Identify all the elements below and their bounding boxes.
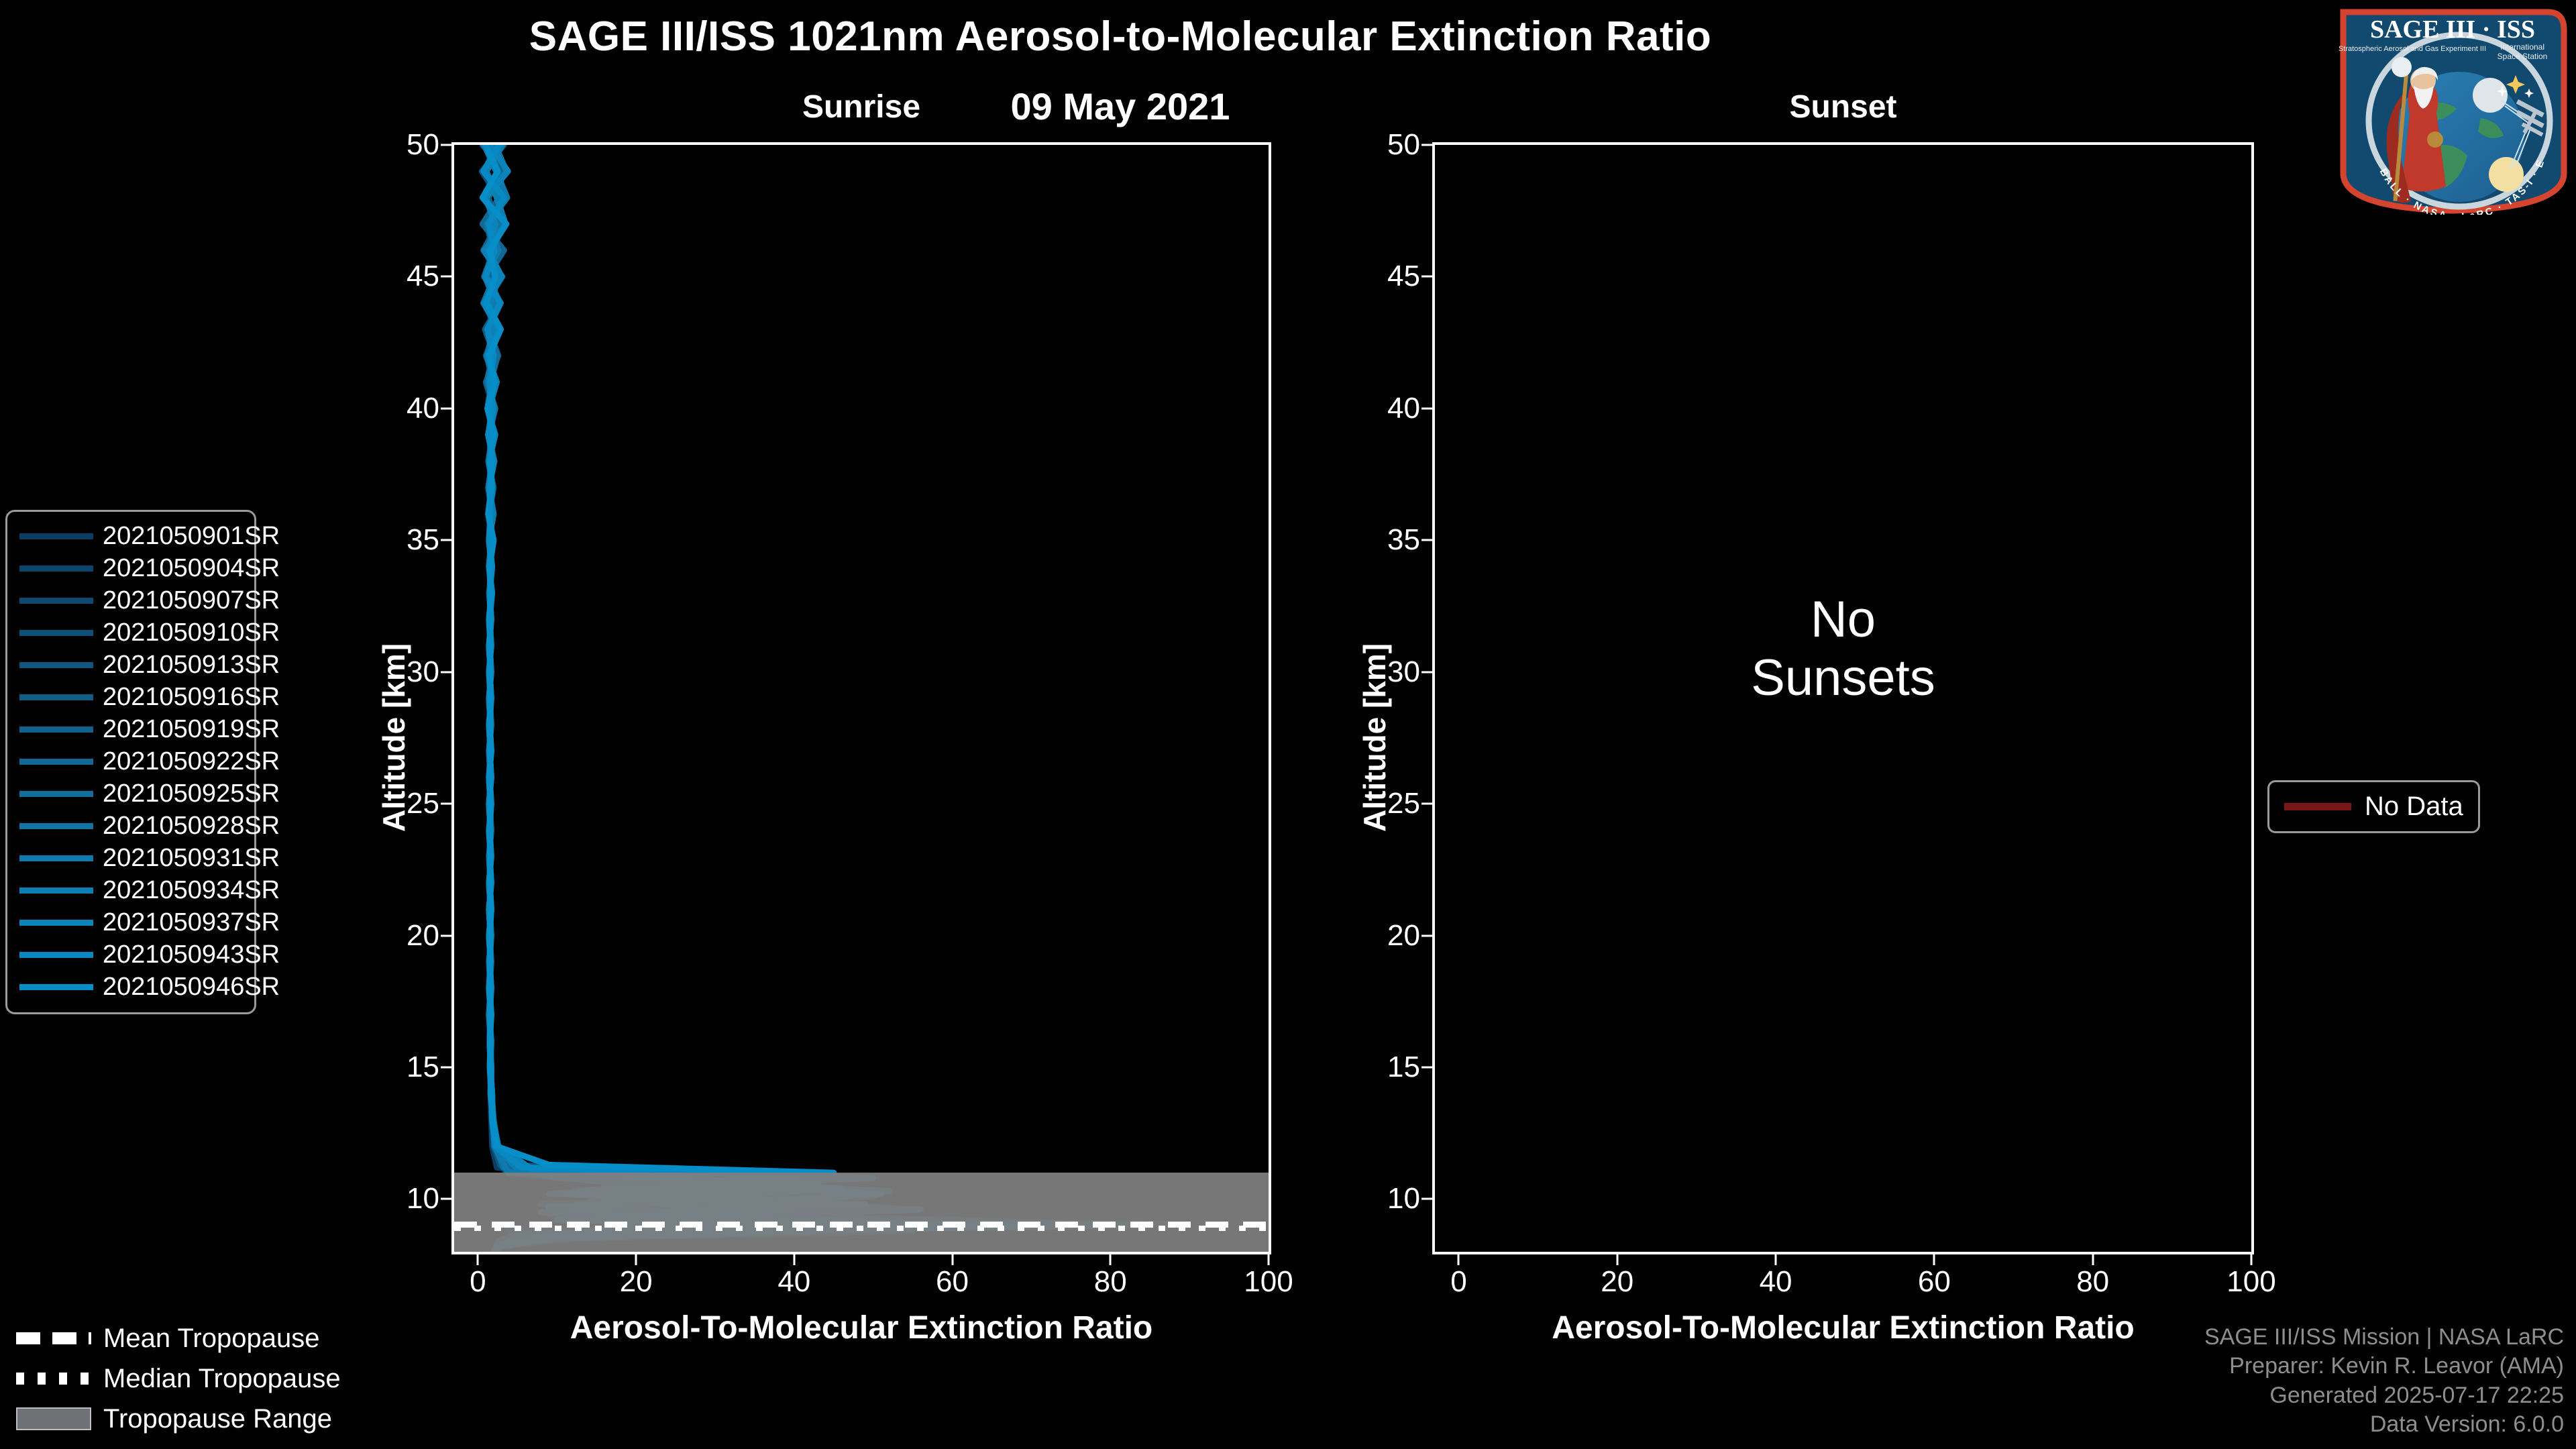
sunrise-events-legend[interactable]: 2021050901SR2021050904SR2021050907SR2021…: [5, 510, 256, 1014]
legend-color-swatch-icon: [19, 791, 93, 797]
legend-item[interactable]: 2021050946SR: [7, 971, 254, 1003]
sunrise-series-svg: [454, 145, 1269, 1252]
y-tick-label: 25: [359, 787, 439, 820]
legend-item-median-tropopause: Median Tropopause: [9, 1358, 358, 1399]
series-line: [482, 145, 1173, 1252]
patch-subtitle-right-2: Space Station: [2498, 52, 2548, 61]
series-line: [482, 145, 881, 1252]
x-tick-mark: [1775, 1254, 1777, 1265]
x-tick-label: 60: [899, 1265, 1006, 1299]
legend-color-swatch-icon: [19, 630, 93, 636]
legend-color-swatch-icon: [19, 920, 93, 926]
series-line: [482, 145, 1094, 1252]
mean-tropopause-label: Mean Tropopause: [103, 1324, 319, 1354]
x-tick-mark: [2092, 1254, 2094, 1265]
legend-item[interactable]: 2021050910SR: [7, 616, 254, 649]
legend-item-label: 2021050910SR: [103, 619, 280, 647]
y-tick-label: 25: [1340, 787, 1420, 820]
legend-color-swatch-icon: [19, 694, 93, 700]
sunrise-plot-panel: [451, 142, 1271, 1254]
no-sunsets-line-1: No: [1432, 590, 2254, 649]
legend-item-label: 2021050907SR: [103, 586, 280, 615]
y-tick-label: 45: [1340, 260, 1420, 293]
sunset-x-axis-label: Aerosol-To-Molecular Extinction Ratio: [1432, 1309, 2254, 1346]
y-tick-label: 50: [359, 128, 439, 162]
series-line: [484, 145, 865, 1252]
x-tick-label: 80: [2039, 1265, 2147, 1299]
y-tick-mark: [1421, 407, 1432, 409]
y-tick-label: 15: [1340, 1051, 1420, 1084]
y-tick-mark: [1421, 1067, 1432, 1069]
no-data-swatch-icon: [2284, 803, 2351, 810]
series-line: [484, 145, 1032, 1252]
sunrise-plot-area: [454, 145, 1269, 1252]
y-tick-label: 50: [1340, 128, 1420, 162]
x-tick-label: 20: [1564, 1265, 1671, 1299]
y-tick-label: 40: [1340, 392, 1420, 425]
mean-tropopause-swatch-icon: [16, 1332, 91, 1344]
y-tick-label: 30: [1340, 655, 1420, 689]
legend-item[interactable]: 2021050925SR: [7, 777, 254, 810]
series-line: [484, 145, 1150, 1252]
series-line: [484, 145, 1047, 1252]
y-tick-mark: [1421, 803, 1432, 805]
no-data-label: No Data: [2365, 792, 2463, 822]
median-tropopause-line: [454, 1226, 1269, 1231]
legend-item-mean-tropopause: Mean Tropopause: [9, 1318, 358, 1358]
legend-item-label: 2021050916SR: [103, 683, 280, 712]
legend-item[interactable]: 2021050916SR: [7, 681, 254, 713]
legend-color-swatch-icon: [19, 759, 93, 765]
legend-item-label: 2021050919SR: [103, 715, 280, 744]
y-tick-label: 20: [359, 919, 439, 953]
series-line: [484, 145, 897, 1252]
median-tropopause-label: Median Tropopause: [103, 1364, 341, 1394]
legend-color-swatch-icon: [19, 984, 93, 990]
legend-item-label: 2021050937SR: [103, 908, 280, 937]
legend-color-swatch-icon: [19, 823, 93, 829]
x-tick-label: 0: [424, 1265, 531, 1299]
sunset-panel-title: Sunset: [1432, 89, 2254, 125]
legend-item[interactable]: 2021050919SR: [7, 713, 254, 745]
y-tick-mark: [1421, 539, 1432, 541]
series-line: [484, 145, 936, 1252]
legend-color-swatch-icon: [19, 662, 93, 668]
legend-item[interactable]: 2021050943SR: [7, 938, 254, 971]
x-tick-label: 100: [1215, 1265, 1322, 1299]
legend-color-swatch-icon: [19, 727, 93, 733]
legend-item-label: 2021050943SR: [103, 941, 280, 969]
x-tick-mark: [477, 1254, 479, 1265]
x-tick-mark: [1110, 1254, 1112, 1265]
sage-iii-iss-mission-patch-logo: BALL · NASA · LaRC · TAS-I · ESA SAGE II…: [2279, 5, 2568, 215]
y-tick-label: 10: [1340, 1182, 1420, 1216]
tropopause-range-label: Tropopause Range: [103, 1404, 332, 1434]
x-tick-label: 40: [1722, 1265, 1829, 1299]
page-title: SAGE III/ISS 1021nm Aerosol-to-Molecular…: [0, 15, 2241, 58]
tropopause-range-swatch-icon: [16, 1407, 91, 1430]
legend-color-swatch-icon: [19, 566, 93, 572]
y-tick-mark: [1421, 934, 1432, 936]
footer-credits: SAGE III/ISS Mission | NASA LaRC Prepare…: [2204, 1323, 2564, 1440]
y-tick-mark: [441, 539, 451, 541]
legend-item-label: 2021050925SR: [103, 780, 280, 808]
legend-item[interactable]: 2021050931SR: [7, 842, 254, 874]
y-tick-label: 35: [359, 523, 439, 557]
x-tick-label: 40: [741, 1265, 848, 1299]
y-tick-mark: [1421, 276, 1432, 278]
footer-line-preparer: Preparer: Kevin R. Leavor (AMA): [2204, 1352, 2564, 1381]
no-sunsets-line-2: Sunsets: [1432, 649, 2254, 707]
patch-title: SAGE III · ISS: [2370, 15, 2535, 44]
legend-item[interactable]: 2021050922SR: [7, 745, 254, 777]
sunrise-panel-title: Sunrise: [451, 89, 1271, 125]
y-tick-mark: [441, 671, 451, 673]
legend-item-label: 2021050913SR: [103, 651, 280, 680]
x-tick-label: 60: [1880, 1265, 1988, 1299]
series-line: [484, 145, 969, 1252]
footer-line-mission: SAGE III/ISS Mission | NASA LaRC: [2204, 1323, 2564, 1352]
legend-rows: 2021050901SR2021050904SR2021050907SR2021…: [7, 520, 254, 1003]
y-tick-label: 35: [1340, 523, 1420, 557]
legend-item[interactable]: 2021050928SR: [7, 810, 254, 842]
y-tick-label: 40: [359, 392, 439, 425]
x-tick-label: 100: [2198, 1265, 2305, 1299]
patch-subtitle-left: Stratospheric Aerosol and Gas Experiment…: [2339, 45, 2486, 53]
sunset-no-data-legend[interactable]: No Data: [2267, 780, 2480, 833]
legend-item[interactable]: 2021050904SR: [7, 552, 254, 584]
tropopause-legend: Mean Tropopause Median Tropopause Tropop…: [9, 1318, 358, 1439]
y-tick-mark: [1421, 671, 1432, 673]
footer-line-generated: Generated 2025-07-17 22:25: [2204, 1381, 2564, 1411]
y-tick-label: 10: [359, 1182, 439, 1216]
series-line: [482, 145, 873, 1252]
series-line: [484, 145, 953, 1252]
tropopause-range-band: [454, 1173, 1269, 1252]
y-tick-mark: [1421, 144, 1432, 146]
legend-item-label: 2021050922SR: [103, 747, 280, 776]
y-tick-mark: [441, 803, 451, 805]
y-tick-mark: [1421, 1198, 1432, 1200]
legend-color-swatch-icon: [19, 855, 93, 861]
legend-color-swatch-icon: [19, 888, 93, 894]
legend-item-label: 2021050934SR: [103, 876, 280, 905]
series-line: [484, 145, 779, 1252]
series-line: [482, 145, 912, 1252]
series-line: [484, 145, 1000, 1252]
legend-item[interactable]: 2021050901SR: [7, 520, 254, 552]
legend-item-label: 2021050901SR: [103, 522, 280, 551]
footer-line-data-version: Data Version: 6.0.0: [2204, 1410, 2564, 1440]
x-tick-mark: [1268, 1254, 1270, 1265]
y-tick-label: 15: [359, 1051, 439, 1084]
patch-subtitle-right-1: International: [2500, 42, 2544, 52]
sunrise-x-axis-label: Aerosol-To-Molecular Extinction Ratio: [451, 1309, 1271, 1346]
legend-color-swatch-icon: [19, 598, 93, 604]
median-tropopause-swatch-icon: [16, 1373, 91, 1385]
legend-item[interactable]: 2021050937SR: [7, 906, 254, 938]
legend-item-label: 2021050904SR: [103, 554, 280, 583]
x-tick-label: 80: [1057, 1265, 1164, 1299]
legend-color-swatch-icon: [19, 952, 93, 958]
x-tick-mark: [951, 1254, 953, 1265]
y-tick-mark: [441, 1198, 451, 1200]
y-tick-mark: [441, 1067, 451, 1069]
legend-item-tropopause-range: Tropopause Range: [9, 1399, 358, 1439]
no-sunsets-note: No Sunsets: [1432, 590, 2254, 708]
legend-item[interactable]: 2021050907SR: [7, 584, 254, 616]
mission-patch-svg: BALL · NASA · LaRC · TAS-I · ESA SAGE II…: [2279, 5, 2568, 215]
legend-item[interactable]: 2021050934SR: [7, 874, 254, 906]
x-tick-mark: [1458, 1254, 1460, 1265]
y-tick-mark: [441, 934, 451, 936]
x-tick-mark: [1933, 1254, 1935, 1265]
y-tick-label: 30: [359, 655, 439, 689]
legend-item-label: 2021050928SR: [103, 812, 280, 841]
y-tick-label: 45: [359, 260, 439, 293]
legend-item-label: 2021050946SR: [103, 973, 280, 1002]
x-tick-label: 20: [582, 1265, 690, 1299]
y-tick-mark: [441, 144, 451, 146]
y-tick-mark: [441, 276, 451, 278]
x-tick-label: 0: [1405, 1265, 1512, 1299]
legend-item-label: 2021050931SR: [103, 844, 280, 873]
x-tick-mark: [2251, 1254, 2253, 1265]
x-tick-mark: [635, 1254, 637, 1265]
legend-item[interactable]: 2021050913SR: [7, 649, 254, 681]
x-tick-mark: [1616, 1254, 1618, 1265]
y-tick-label: 20: [1340, 919, 1420, 953]
y-tick-mark: [441, 407, 451, 409]
x-tick-mark: [793, 1254, 795, 1265]
legend-color-swatch-icon: [19, 533, 93, 539]
